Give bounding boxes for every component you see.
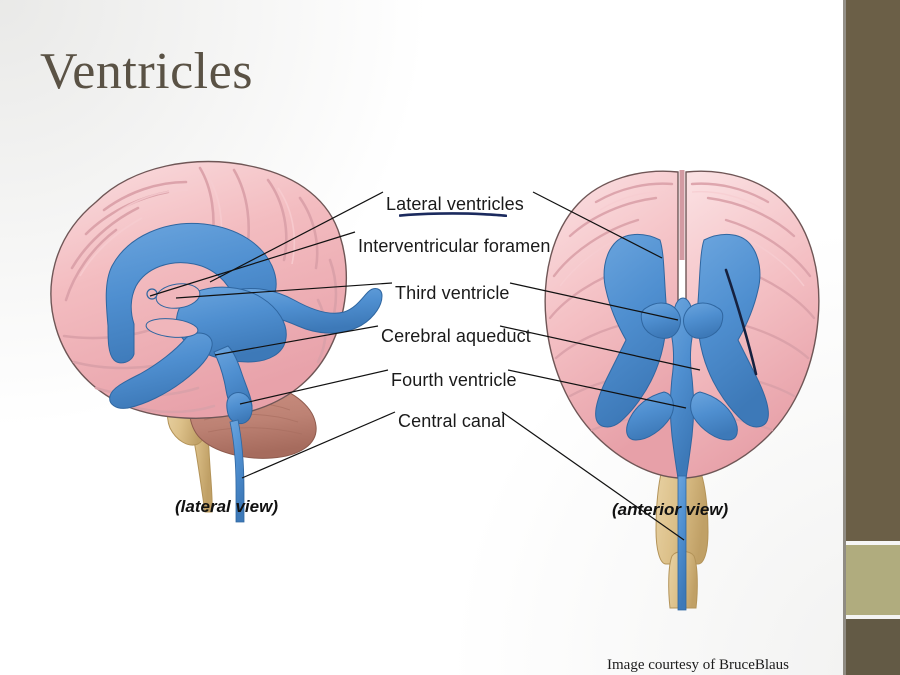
fourth-ventricle <box>227 393 252 424</box>
label-third-ventricle: Third ventricle <box>395 283 510 304</box>
label-cerebral-aqueduct: Cerebral aqueduct <box>381 326 531 347</box>
decorative-rail <box>843 0 900 675</box>
rail-block-accent <box>846 545 900 615</box>
rail-block-bottom <box>846 619 900 675</box>
caption-lateral-view: (lateral view) <box>175 497 278 517</box>
label-central-canal: Central canal <box>398 411 505 432</box>
label-lateral-ventricles: Lateral ventricles <box>386 194 524 215</box>
brain-ventricles-illustration <box>0 140 843 675</box>
anterior-view-brain <box>545 170 819 610</box>
image-credit: Image courtesy of BruceBlaus <box>607 657 789 674</box>
page-title: Ventricles <box>40 42 253 102</box>
central-canal-anterior <box>678 476 686 610</box>
rail-block-top <box>846 0 900 541</box>
caption-anterior-view: (anterior view) <box>612 500 728 520</box>
label-interventricular-foramen: Interventricular foramen <box>358 236 550 257</box>
slide-canvas: Ventricles <box>0 0 900 675</box>
lateral-view-brain <box>51 162 382 523</box>
label-fourth-ventricle: Fourth ventricle <box>391 370 517 391</box>
